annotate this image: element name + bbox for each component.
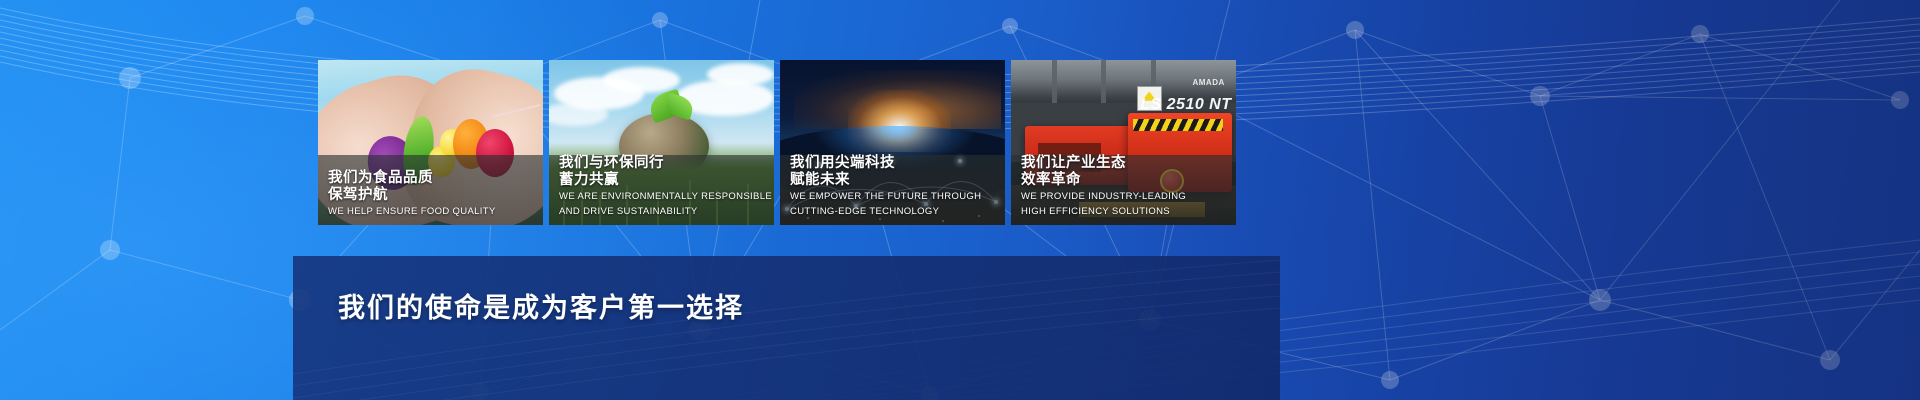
mission-card-environment[interactable]: 我们与环保同行 蓄力共赢 WE ARE ENVIRONMENTALLY RESP… — [549, 60, 774, 225]
mission-card-technology[interactable]: 我们用尖端科技 赋能未来 WE EMPOWER THE FUTURE THROU… — [780, 60, 1005, 225]
machine-model-label: LS 2510 NT — [1140, 96, 1231, 114]
machine-brand-label: AMADA — [1192, 78, 1224, 87]
card-en-line2: AND DRIVE SUSTAINABILITY — [559, 206, 766, 219]
card-en-line1: WE EMPOWER THE FUTURE THROUGH — [790, 191, 997, 204]
card-cn-line2: 效率革命 — [1021, 172, 1228, 189]
card-en-line1: WE HELP ENSURE FOOD QUALITY — [328, 206, 535, 219]
banner-title: 我们的使命是成为客户第一选择 — [338, 286, 744, 325]
card-en-line2: HIGH EFFICIENCY SOLUTIONS — [1021, 206, 1228, 219]
card-cn-line1: 我们与环保同行 — [559, 155, 766, 172]
card-cn-line2: 保驾护航 — [328, 187, 535, 204]
card-caption: 我们用尖端科技 赋能未来 WE EMPOWER THE FUTURE THROU… — [790, 155, 997, 218]
card-caption: 我们与环保同行 蓄力共赢 WE ARE ENVIRONMENTALLY RESP… — [559, 155, 766, 218]
card-en-line1: WE PROVIDE INDUSTRY-LEADING — [1021, 191, 1228, 204]
card-en-line1: WE ARE ENVIRONMENTALLY RESPONSIBLE — [559, 191, 766, 204]
hero-banner: 我们为食品品质 保驾护航 WE HELP ENSURE FOOD QUALITY — [0, 0, 1920, 400]
card-cn-line2: 赋能未来 — [790, 172, 997, 189]
card-caption: 我们为食品品质 保驾护航 WE HELP ENSURE FOOD QUALITY — [328, 170, 535, 219]
banner-wave-decoration — [293, 256, 1280, 400]
mission-card-industry[interactable]: AMADA LS 2510 NT 我们让产业生态 效率革命 WE PROVIDE… — [1011, 60, 1236, 225]
mission-card-list: 我们为食品品质 保驾护航 WE HELP ENSURE FOOD QUALITY — [318, 60, 1236, 225]
mission-card-food-quality[interactable]: 我们为食品品质 保驾护航 WE HELP ENSURE FOOD QUALITY — [318, 60, 543, 225]
card-cn-line1: 我们为食品品质 — [328, 170, 535, 187]
mission-statement-banner: 我们的使命是成为客户第一选择 — [293, 256, 1280, 400]
card-en-line2: CUTTING-EDGE TECHNOLOGY — [790, 206, 997, 219]
card-cn-line1: 我们让产业生态 — [1021, 155, 1228, 172]
card-caption: 我们让产业生态 效率革命 WE PROVIDE INDUSTRY-LEADING… — [1021, 155, 1228, 218]
card-cn-line1: 我们用尖端科技 — [790, 155, 997, 172]
card-cn-line2: 蓄力共赢 — [559, 172, 766, 189]
